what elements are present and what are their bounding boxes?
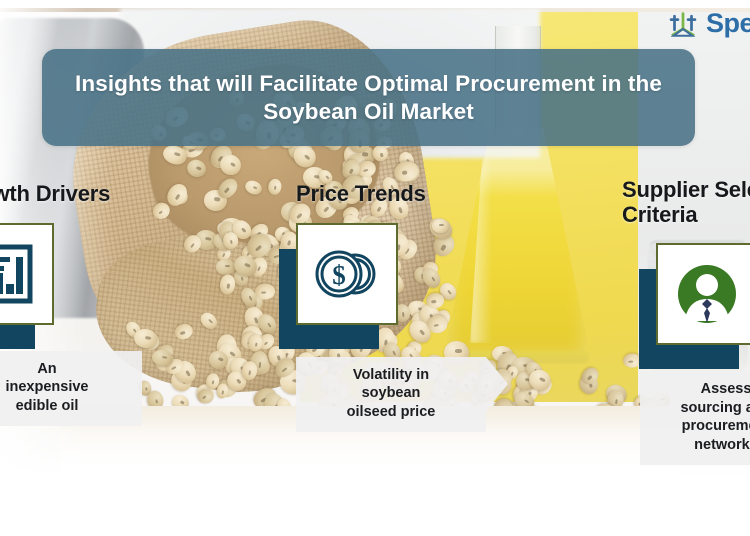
svg-text:$: $ [332,260,346,290]
soybean [254,283,275,299]
card-growth-drivers: Growth Drivers An inexpensive edible oil [0,182,142,426]
card-note: Volatility in soybean oilseed price [296,357,486,433]
icon-frame: $ [296,223,396,327]
infographic-canvas: Sper Insights that will Facilitate Optim… [0,0,750,536]
supplier-person-icon [674,261,740,327]
card-price-trends: Price Trends $ Volatility in soybean oil… [296,182,486,432]
soybean [219,274,236,295]
icon-white-box: $ [296,223,398,325]
card-note-text: Volatility in soybean oilseed price [347,366,436,422]
card-note: Assess sourcing and procurement networks [640,371,750,465]
soybean [216,259,236,275]
banner-title-text: Insights that will Facilitate Optimal Pr… [42,70,695,125]
soybean [198,310,220,332]
card-heading: Growth Drivers [0,182,142,207]
card-note: An inexpensive edible oil [0,351,142,427]
bar-chart-report-icon [0,243,34,305]
soybean [267,178,282,195]
icon-white-box [0,223,54,325]
card-note-text: Assess sourcing and procurement networks [680,380,750,454]
brand-name: Sper [706,8,750,39]
icon-frame [656,243,750,347]
card-supplier-selection-criteria: Supplier Selection Criteria Assess sourc… [622,178,750,465]
dollar-coins-icon: $ [314,245,380,303]
icon-white-box [656,243,750,345]
card-note-text: An inexpensive edible oil [5,360,88,416]
spendedge-trident-logo-icon [666,6,700,40]
title-banner: Insights that will Facilitate Optimal Pr… [42,49,695,146]
soybean [185,157,209,180]
icon-frame [0,223,52,327]
soybean [173,322,195,342]
card-heading: Price Trends [296,182,486,207]
card-heading: Supplier Selection Criteria [622,178,750,227]
brand-logo[interactable]: Sper [666,6,750,40]
soybean [243,178,264,197]
